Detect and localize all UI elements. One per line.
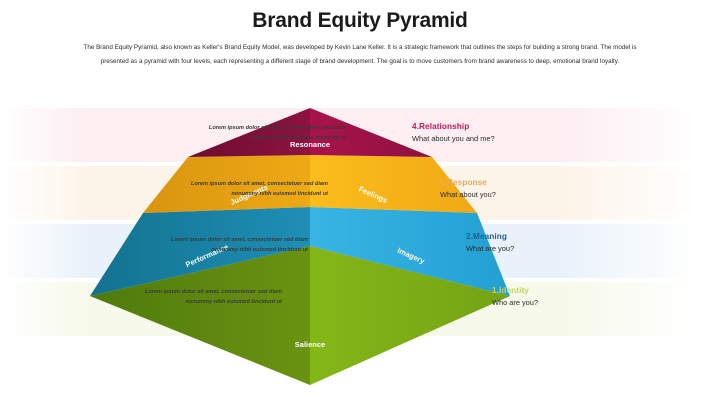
level-description-relationship: Lorem ipsum dolor sit amet, consectetuer… bbox=[150, 124, 346, 143]
stage-relationship: 4.Relationship What about you and me? bbox=[412, 122, 495, 143]
stage-question-meaning: What are you? bbox=[466, 244, 514, 253]
stage-title-relationship: 4.Relationship bbox=[412, 122, 495, 131]
stage-question-relationship: What about you and me? bbox=[412, 134, 495, 143]
stage-question-response: What about you? bbox=[440, 190, 496, 199]
stage-response: 3.Response What about you? bbox=[440, 178, 496, 199]
stage-title-response: 3.Response bbox=[440, 178, 496, 187]
level-description-response: Lorem ipsum dolor sit amet, consectetuer… bbox=[132, 180, 328, 199]
stage-meaning: 2.Meaning What are you? bbox=[466, 232, 514, 253]
stage-title-meaning: 2.Meaning bbox=[466, 232, 514, 241]
stage-question-identity: Who are you? bbox=[492, 298, 538, 307]
pyramid-label-salience: Salience bbox=[295, 340, 325, 349]
stage-identity: 1.Identity Who are you? bbox=[492, 286, 538, 307]
stage-title-identity: 1.Identity bbox=[492, 286, 538, 295]
page-title: Brand Equity Pyramid bbox=[0, 9, 720, 33]
level-description-identity: Lorem ipsum dolor sit amet, consectetuer… bbox=[86, 288, 282, 307]
level-description-meaning: Lorem ipsum dolor sit amet, consectetuer… bbox=[112, 236, 308, 255]
page-description: The Brand Equity Pyramid, also known as … bbox=[70, 41, 650, 69]
